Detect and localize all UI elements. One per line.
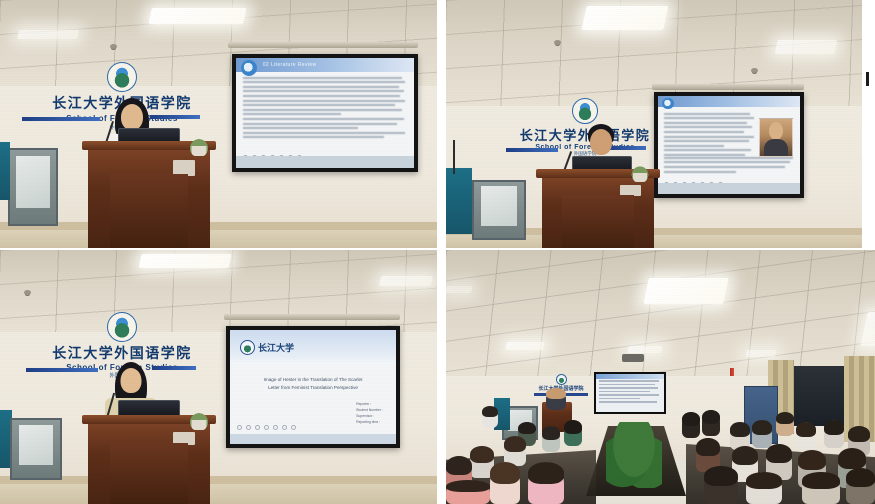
audience-member xyxy=(482,406,498,428)
slide-body-text xyxy=(243,77,407,151)
university-emblem-icon xyxy=(240,340,255,355)
front-presenter xyxy=(546,388,566,410)
slide-logo-icon xyxy=(662,98,673,109)
slide-university-logo: 长江大学 xyxy=(240,337,267,358)
wall-cabinet xyxy=(8,148,58,226)
slide-literature-review: 02 Literature Review xyxy=(236,58,414,168)
flower-vase xyxy=(628,158,652,182)
slide-meta-block: Reporter : Student Number : Supervisor :… xyxy=(356,402,383,426)
audience-member xyxy=(702,410,720,436)
university-emblem-icon xyxy=(107,62,137,92)
slide-title-page: 长江大学 Image of Hester in the Translation … xyxy=(230,330,396,444)
screen-roller xyxy=(224,314,400,320)
projector-screen xyxy=(594,372,666,414)
audience-member xyxy=(542,426,560,452)
smoke-detector-icon xyxy=(24,290,31,295)
photo-top-left: 长江大学外国语学院 School of Foreign Studies 外国语学… xyxy=(0,0,437,248)
screen-roller xyxy=(228,42,418,48)
podium xyxy=(88,422,210,504)
audience-member xyxy=(796,422,816,450)
slide-with-portrait xyxy=(658,96,800,194)
slide-university-name: 长江大学 xyxy=(258,341,294,354)
audience-member xyxy=(564,420,582,446)
projector-screen: 长江大学 Image of Hester in the Translation … xyxy=(226,326,400,448)
audience-member xyxy=(752,420,772,448)
slide-main-title: Image of Hester in the Translation of Th… xyxy=(247,376,380,393)
podium xyxy=(88,148,210,248)
university-emblem-icon xyxy=(572,98,598,124)
flower-vase xyxy=(186,404,212,430)
wall-sign-bar-left xyxy=(506,148,558,152)
projector-screen xyxy=(654,92,804,198)
screen-roller xyxy=(652,84,804,90)
equipment-box xyxy=(446,168,472,234)
slide-title-line-1: Image of Hester in the Translation of Th… xyxy=(247,376,380,385)
floor-microphone xyxy=(453,140,455,174)
podium xyxy=(542,176,654,248)
photo-top-right: 长江大学外国语学院 School of Foreign Studies 外国语学… xyxy=(446,0,862,248)
equipment-box xyxy=(0,142,10,200)
wall-sign-bar-left xyxy=(22,117,100,121)
audience-member xyxy=(776,412,794,436)
audience-member xyxy=(824,420,844,448)
audience-member xyxy=(446,480,490,504)
slide-title: 02 Literature Review xyxy=(263,62,317,68)
wall-sign-bar-right xyxy=(152,366,196,370)
audience-member xyxy=(746,472,782,504)
audience-member xyxy=(802,472,840,504)
smoke-detector-icon xyxy=(110,44,117,49)
ceiling-projector xyxy=(622,354,644,362)
wall-sign-chinese: 长江大学外国语学院 xyxy=(44,343,200,363)
photo-collage: 长江大学外国语学院 School of Foreign Studies 外国语学… xyxy=(0,0,875,504)
slide-meta-reporting-time: Reporting time : xyxy=(356,420,383,426)
audience-member xyxy=(490,462,520,504)
photo-bottom-right: 长江大学外国语学院 xyxy=(446,250,875,504)
edge-artifact xyxy=(866,72,869,86)
potted-plant xyxy=(606,422,662,488)
slide-toolbar-icons xyxy=(237,425,296,430)
slide-content xyxy=(596,374,664,412)
flower-vase xyxy=(186,130,212,156)
smoke-detector-icon-2 xyxy=(751,68,758,73)
wall-cabinet xyxy=(472,180,526,240)
audience-member xyxy=(846,468,875,504)
audience-member xyxy=(528,462,564,504)
university-emblem-icon xyxy=(107,312,137,342)
university-emblem-icon xyxy=(556,374,567,385)
audience-member xyxy=(704,466,738,504)
photo-bottom-left: 长江大学外国语学院 School of Foreign Studies 外国语学… xyxy=(0,250,437,504)
wall-cabinet xyxy=(10,418,62,480)
slide-title-line-2: Letter from Feminist Translation Perspec… xyxy=(247,384,380,393)
wall-sign-bar-left xyxy=(26,368,98,372)
audience-member xyxy=(682,412,700,438)
slide-portrait-photo xyxy=(759,118,793,157)
slide-meta-student-number: Student Number : xyxy=(356,408,383,414)
projector-screen: 02 Literature Review xyxy=(232,54,418,172)
smoke-detector-icon xyxy=(554,40,561,45)
slide-logo-icon xyxy=(241,60,257,76)
